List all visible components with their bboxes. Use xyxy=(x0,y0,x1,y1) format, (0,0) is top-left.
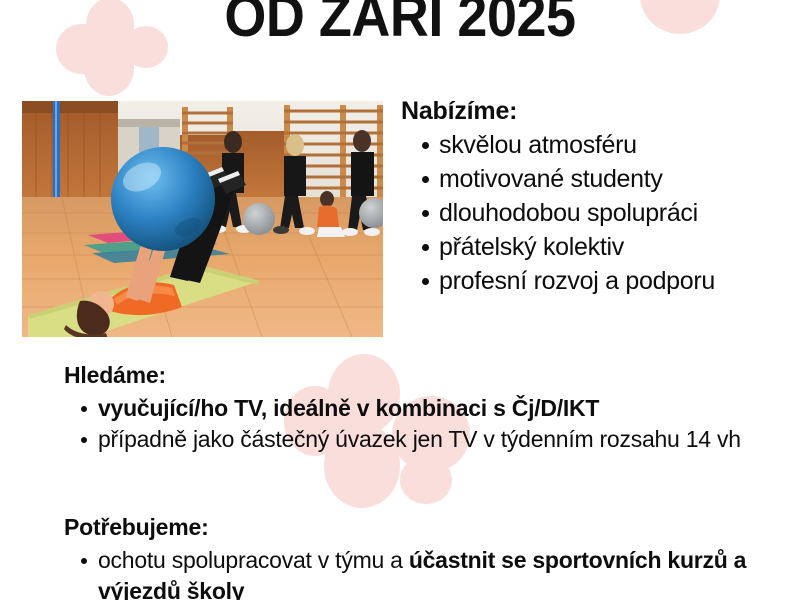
bullet-icon xyxy=(422,210,429,217)
offer-list: skvělou atmosféru motivované studenty dl… xyxy=(401,128,793,298)
seek-list: vyučující/ho TV, ideálně v kombinaci s Č… xyxy=(64,393,784,455)
bullet-icon xyxy=(422,244,429,251)
bullet-icon xyxy=(422,142,429,149)
list-item-label: motivované studenty xyxy=(439,165,663,193)
offer-heading: Nabízíme: xyxy=(401,96,793,126)
list-item-label: skvělou atmosféru xyxy=(439,131,637,159)
list-item-label: přátelský kolektiv xyxy=(439,233,624,261)
list-item-prefix: ochotu spolupracovat v týmu a xyxy=(98,547,409,573)
list-item: přátelský kolektiv xyxy=(401,230,793,264)
bullet-icon xyxy=(422,176,429,183)
list-item: vyučující/ho TV, ideálně v kombinaci s Č… xyxy=(64,393,784,424)
list-item-label: vyučující/ho TV, ideálně v kombinaci s Č… xyxy=(98,395,599,421)
list-item: ochotu spolupracovat v týmu a účastnit s… xyxy=(64,545,784,600)
list-item: případně jako částečný úvazek jen TV v t… xyxy=(64,424,784,455)
need-list: ochotu spolupracovat v týmu a účastnit s… xyxy=(64,545,784,600)
poster-canvas: OD ZÁŘÍ 2025 xyxy=(0,0,800,600)
offer-section: Nabízíme: skvělou atmosféru motivované s… xyxy=(401,96,793,298)
list-item: dlouhodobou spolupráci xyxy=(401,196,793,230)
bullet-icon xyxy=(81,558,87,564)
list-item-label: dlouhodobou spolupráci xyxy=(439,199,698,227)
decorative-circle xyxy=(400,456,452,504)
bullet-icon xyxy=(422,278,429,285)
list-item: skvělou atmosféru xyxy=(401,128,793,162)
seek-heading: Hledáme: xyxy=(64,360,784,390)
gym-photo xyxy=(22,101,383,337)
bullet-icon xyxy=(81,437,87,443)
poster-title: OD ZÁŘÍ 2025 xyxy=(28,0,772,48)
gym-photo-illustration xyxy=(22,101,383,337)
seek-section: Hledáme: vyučující/ho TV, ideálně v komb… xyxy=(64,360,784,455)
list-item-label: případně jako částečný úvazek jen TV v t… xyxy=(98,426,741,452)
list-item: profesní rozvoj a podporu xyxy=(401,264,793,298)
need-section: Potřebujeme: ochotu spolupracovat v týmu… xyxy=(64,512,784,600)
bullet-icon xyxy=(81,406,87,412)
list-item-label: profesní rozvoj a podporu xyxy=(439,267,715,295)
need-heading: Potřebujeme: xyxy=(64,512,784,542)
list-item: motivované studenty xyxy=(401,162,793,196)
decorative-circle xyxy=(84,40,134,96)
